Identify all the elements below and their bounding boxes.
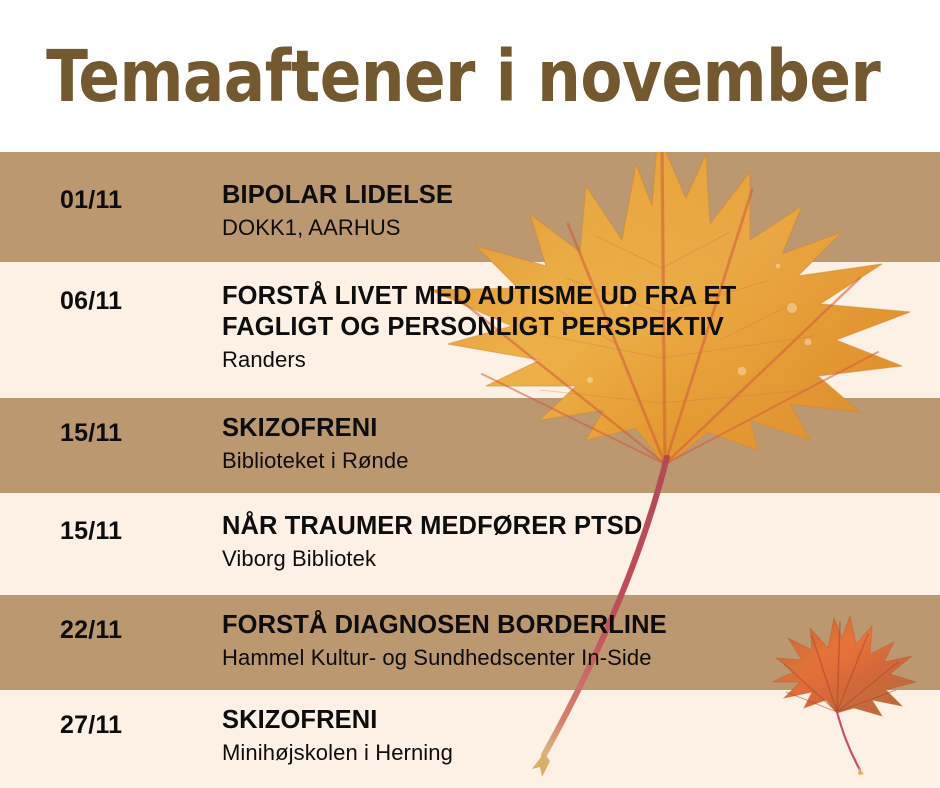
event-venue: Viborg Bibliotek [222,545,922,573]
event-title: NÅR TRAUMER MEDFØRER PTSD [222,511,922,542]
event-row-5[interactable]: 22/11 FORSTÅ DIAGNOSEN BORDERLINE Hammel… [0,595,940,690]
event-title: FORSTÅ LIVET MED AUTISME UD FRA ET FAGLI… [222,281,922,343]
event-venue: Randers [222,346,922,374]
event-row-6[interactable]: 27/11 SKIZOFRENI Minihøjskolen i Herning [0,690,940,788]
poster: Temaaftener i november 01/11 BIPOLAR LID… [0,0,940,788]
event-row-1[interactable]: 01/11 BIPOLAR LIDELSE DOKK1, AARHUS [0,152,940,262]
event-title: FORSTÅ DIAGNOSEN BORDERLINE [222,610,922,641]
event-date: 27/11 [60,711,122,740]
event-row-4[interactable]: 15/11 NÅR TRAUMER MEDFØRER PTSD Viborg B… [0,493,940,595]
event-date: 01/11 [60,186,122,215]
event-date: 06/11 [60,287,122,316]
event-venue: Hammel Kultur- og Sundhedscenter In-Side [222,644,922,672]
event-venue: Biblioteket i Rønde [222,447,922,475]
event-row-2[interactable]: 06/11 FORSTÅ LIVET MED AUTISME UD FRA ET… [0,262,940,398]
event-date: 22/11 [60,616,122,645]
event-title: SKIZOFRENI [222,413,922,444]
title-bar: Temaaftener i november [0,0,940,152]
event-row-3[interactable]: 15/11 SKIZOFRENI Biblioteket i Rønde [0,398,940,493]
event-title: BIPOLAR LIDELSE [222,180,922,211]
page-title: Temaaftener i november [0,41,880,112]
event-date: 15/11 [60,517,122,546]
event-venue: DOKK1, AARHUS [222,214,922,242]
event-venue: Minihøjskolen i Herning [222,739,922,767]
event-date: 15/11 [60,419,122,448]
event-title: SKIZOFRENI [222,705,922,736]
